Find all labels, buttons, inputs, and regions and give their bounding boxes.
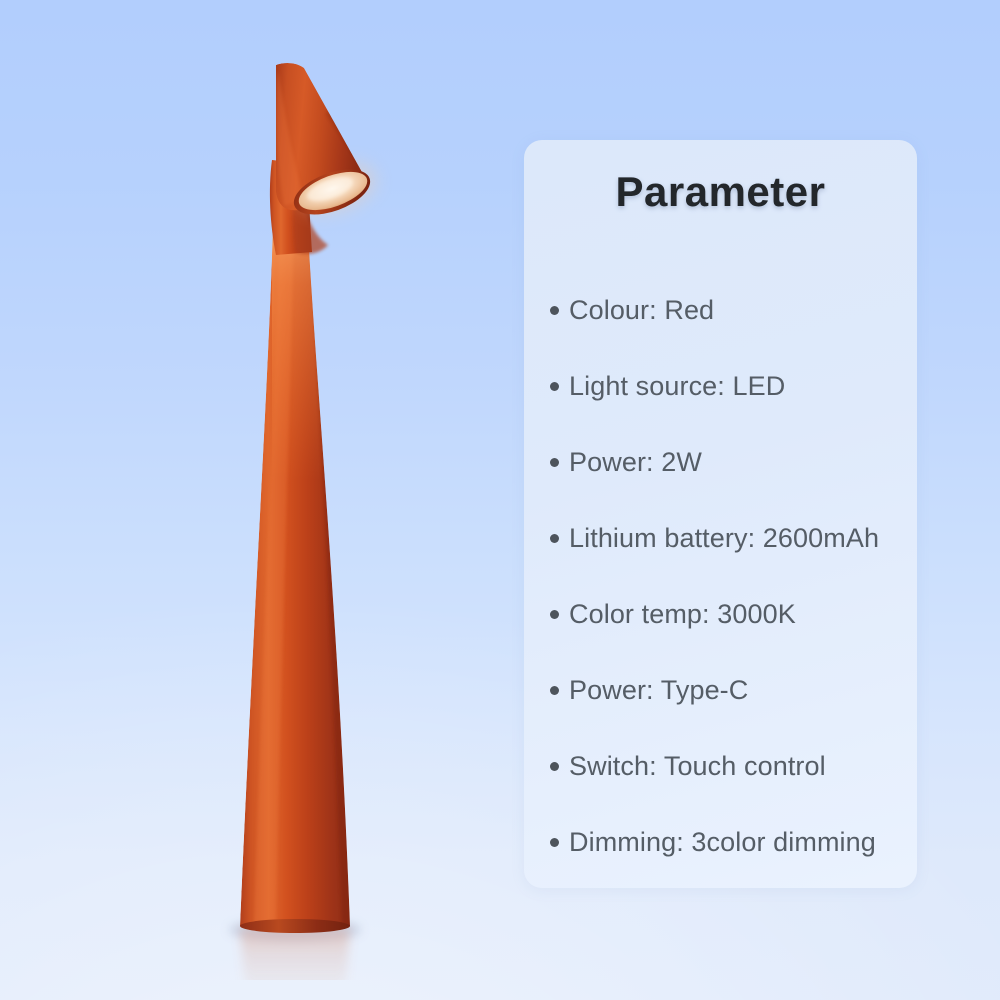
list-item: Switch: Touch control: [546, 728, 895, 804]
list-item: Power: Type-C: [546, 652, 895, 728]
list-item: Dimming: 3color dimming: [546, 804, 895, 880]
list-item: Lithium battery: 2600mAh: [546, 500, 895, 576]
list-item: Light source: LED: [546, 348, 895, 424]
lamp-head: [276, 60, 381, 224]
parameter-text: Lithium battery: 2600mAh: [569, 523, 879, 554]
bullet-icon: [550, 762, 559, 771]
lamp-illustration: [180, 40, 440, 980]
lamp-body: [240, 180, 356, 926]
parameter-card: Parameter Colour: Red Light source: LED …: [524, 140, 917, 888]
bullet-icon: [550, 534, 559, 543]
list-item: Colour: Red: [546, 272, 895, 348]
lamp-reflection: [240, 928, 350, 980]
parameter-text: Color temp: 3000K: [569, 599, 796, 630]
product-image-stage: Parameter Colour: Red Light source: LED …: [0, 0, 1000, 1000]
parameter-list: Colour: Red Light source: LED Power: 2W …: [546, 272, 895, 880]
bullet-icon: [550, 382, 559, 391]
list-item: Power: 2W: [546, 424, 895, 500]
parameter-text: Switch: Touch control: [569, 751, 826, 782]
parameter-text: Colour: Red: [569, 295, 714, 326]
bullet-icon: [550, 838, 559, 847]
bullet-icon: [550, 610, 559, 619]
parameter-card-title: Parameter: [546, 168, 895, 220]
parameter-text: Power: 2W: [569, 447, 702, 478]
list-item: Color temp: 3000K: [546, 576, 895, 652]
parameter-text: Power: Type-C: [569, 675, 748, 706]
product-photo-lamp: [180, 40, 440, 980]
lamp-base-edge: [240, 919, 350, 933]
bullet-icon: [550, 458, 559, 467]
bullet-icon: [550, 686, 559, 695]
bullet-icon: [550, 306, 559, 315]
parameter-text: Dimming: 3color dimming: [569, 827, 876, 858]
parameter-text: Light source: LED: [569, 371, 785, 402]
